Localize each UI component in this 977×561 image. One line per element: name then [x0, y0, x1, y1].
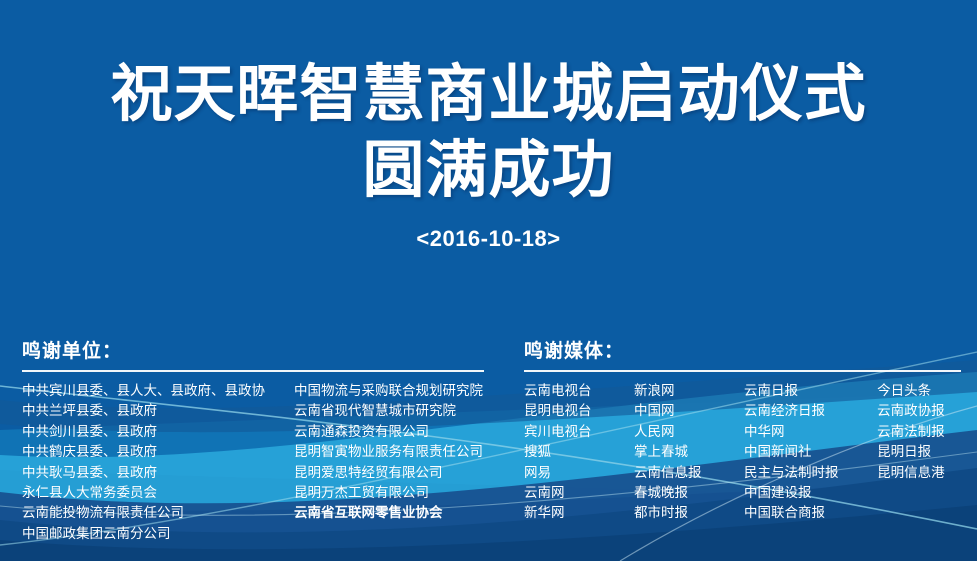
- list-item: 网易: [524, 463, 634, 483]
- main-title-line-2: 圆满成功: [0, 134, 977, 208]
- list-item: 昆明爱思特经贸有限公司: [294, 463, 488, 483]
- list-item: 云南日报: [744, 381, 877, 401]
- section-divider-units: [22, 370, 484, 372]
- list-item: 搜狐: [524, 442, 634, 462]
- credits-section-media: 鸣谢媒体： 云南电视台 昆明电视台 宾川电视台 搜狐 网易 云南网 新华网 新浪…: [524, 336, 964, 524]
- list-item: 中国网: [634, 401, 744, 421]
- list-item: 云南法制报: [877, 422, 964, 442]
- list-item: 昆明万杰工贸有限公司: [294, 483, 488, 503]
- list-item: 云南省互联网零售业协会: [294, 503, 488, 523]
- list-item: 宾川电视台: [524, 422, 634, 442]
- media-column-4: 今日头条 云南政协报 云南法制报 昆明日报 昆明信息港: [877, 381, 964, 524]
- list-item: 中共兰坪县委、县政府: [22, 401, 294, 421]
- list-item: 中国建设报: [744, 483, 877, 503]
- section-header-units: 鸣谢单位：: [22, 336, 488, 370]
- list-item: 永仁县人大常务委员会: [22, 483, 294, 503]
- list-item: 昆明电视台: [524, 401, 634, 421]
- poster-canvas: 祝天晖智慧商业城启动仪式 圆满成功 <2016-10-18> 鸣谢单位： 中共宾…: [0, 0, 977, 561]
- section-header-media: 鸣谢媒体：: [524, 336, 964, 370]
- units-column-2: 中国物流与采购联合规划研究院 云南省现代智慧城市研究院 云南通森投资有限公司 昆…: [294, 381, 488, 544]
- main-title-line-1: 祝天晖智慧商业城启动仪式: [0, 58, 977, 132]
- list-item: 中国联合商报: [744, 503, 877, 523]
- units-columns: 中共宾川县委、县人大、县政府、县政协 中共兰坪县委、县政府 中共剑川县委、县政府…: [22, 381, 488, 544]
- list-item: 云南电视台: [524, 381, 634, 401]
- list-item: 云南省现代智慧城市研究院: [294, 401, 488, 421]
- list-item: 中共鹤庆县委、县政府: [22, 442, 294, 462]
- list-item: 昆明日报: [877, 442, 964, 462]
- title-block: 祝天晖智慧商业城启动仪式 圆满成功 <2016-10-18>: [0, 58, 977, 252]
- list-item: 中国邮政集团云南分公司: [22, 524, 294, 544]
- event-date: <2016-10-18>: [0, 226, 977, 252]
- list-item: 云南政协报: [877, 401, 964, 421]
- list-item: 掌上春城: [634, 442, 744, 462]
- list-item: 中共耿马县委、县政府: [22, 463, 294, 483]
- list-item: 昆明智寅物业服务有限责任公司: [294, 442, 488, 462]
- list-item: 中共剑川县委、县政府: [22, 422, 294, 442]
- list-item: 中共宾川县委、县人大、县政府、县政协: [22, 381, 294, 401]
- credits-section-units: 鸣谢单位： 中共宾川县委、县人大、县政府、县政协 中共兰坪县委、县政府 中共剑川…: [22, 336, 488, 544]
- media-columns: 云南电视台 昆明电视台 宾川电视台 搜狐 网易 云南网 新华网 新浪网 中国网 …: [524, 381, 964, 524]
- list-item: 中国物流与采购联合规划研究院: [294, 381, 488, 401]
- list-item: 人民网: [634, 422, 744, 442]
- media-column-3: 云南日报 云南经济日报 中华网 中国新闻社 民主与法制时报 中国建设报 中国联合…: [744, 381, 877, 524]
- list-item: 新浪网: [634, 381, 744, 401]
- list-item: 新华网: [524, 503, 634, 523]
- list-item: 云南能投物流有限责任公司: [22, 503, 294, 523]
- units-column-1: 中共宾川县委、县人大、县政府、县政协 中共兰坪县委、县政府 中共剑川县委、县政府…: [22, 381, 294, 544]
- list-item: 云南网: [524, 483, 634, 503]
- list-item: 都市时报: [634, 503, 744, 523]
- list-item: 今日头条: [877, 381, 964, 401]
- media-column-1: 云南电视台 昆明电视台 宾川电视台 搜狐 网易 云南网 新华网: [524, 381, 634, 524]
- list-item: 中华网: [744, 422, 877, 442]
- media-column-2: 新浪网 中国网 人民网 掌上春城 云南信息报 春城晚报 都市时报: [634, 381, 744, 524]
- list-item: 昆明信息港: [877, 463, 964, 483]
- list-item: 民主与法制时报: [744, 463, 877, 483]
- list-item: 云南信息报: [634, 463, 744, 483]
- section-divider-media: [524, 370, 961, 372]
- list-item: 春城晚报: [634, 483, 744, 503]
- list-item: 云南通森投资有限公司: [294, 422, 488, 442]
- list-item: 中国新闻社: [744, 442, 877, 462]
- list-item: 云南经济日报: [744, 401, 877, 421]
